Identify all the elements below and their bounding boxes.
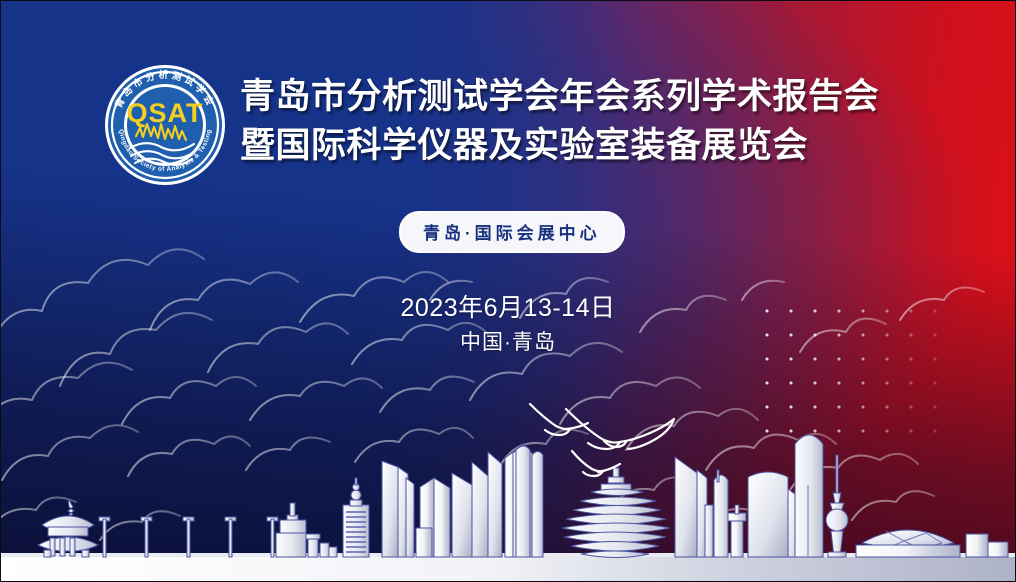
venue-badge-label: 青岛·国际会展中心 (423, 219, 601, 244)
poster-canvas: 青岛市分析测试学会 Qingdao Society of Analysis & … (0, 0, 1016, 582)
poster-title: 青岛市分析测试学会年会系列学术报告会 暨国际科学仪器及实验室装备展览会 (240, 72, 940, 170)
venue-badge: 青岛·国际会展中心 (399, 211, 625, 253)
svg-text:QSAT: QSAT (127, 98, 204, 128)
qsat-logo: 青岛市分析测试学会 Qingdao Society of Analysis & … (104, 64, 226, 186)
title-line-1: 青岛市分析测试学会年会系列学术报告会 (240, 72, 940, 121)
event-city: 中国·青岛 (0, 326, 1016, 356)
event-date: 2023年6月13-14日 (0, 288, 1016, 324)
title-line-2: 暨国际科学仪器及实验室装备展览会 (240, 121, 940, 170)
